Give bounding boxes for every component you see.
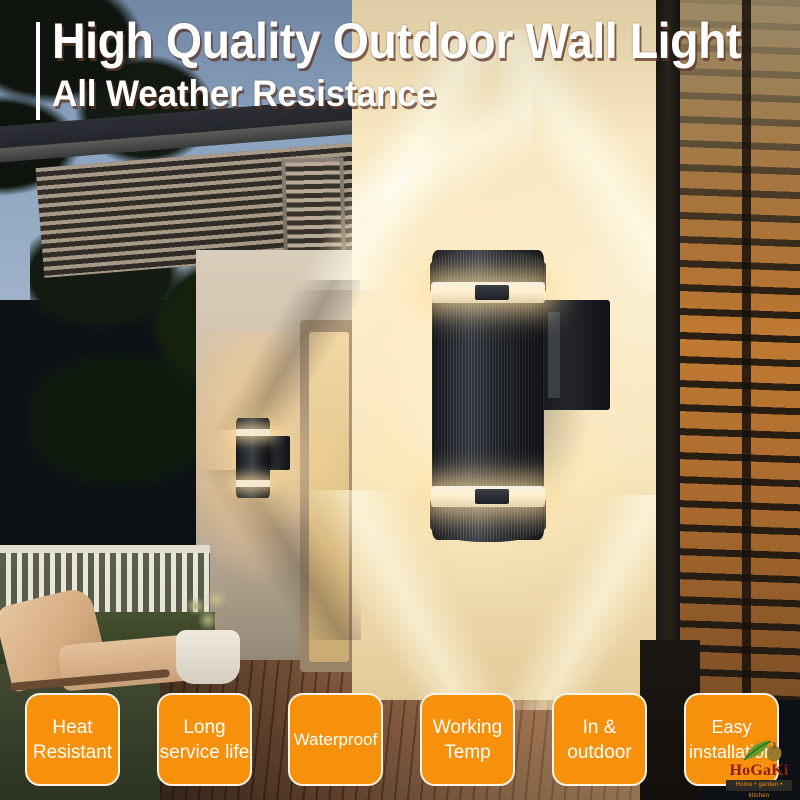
badge-heat-resistant[interactable]: HeatResistant — [25, 693, 120, 786]
small-light-bottom-lens — [236, 480, 270, 487]
small-light-top-lens — [236, 429, 270, 436]
feature-badge-row: HeatResistant Longservice life Waterproo… — [0, 682, 800, 800]
page-subtitle: All Weather Resistance — [52, 72, 756, 116]
light-bottom-lens — [431, 486, 545, 507]
outdoor-wall-light — [430, 250, 610, 550]
leaf-and-pear-icon — [740, 738, 784, 764]
brand-logo: HoGaKi Home • garden • kitchen — [722, 738, 796, 792]
light-top-lens — [431, 282, 545, 303]
light-bracket-slot — [548, 312, 560, 398]
page-title: High Quality Outdoor Wall Light — [52, 12, 741, 70]
badge-waterproof[interactable]: Waterproof — [288, 693, 383, 786]
patio-railing-top-rail — [0, 545, 210, 553]
badge-long-service-life[interactable]: Longservice life — [157, 693, 252, 786]
badge-working-temp[interactable]: WorkingTemp — [420, 693, 515, 786]
badge-label: WorkingTemp — [433, 715, 502, 765]
light-bottom-led-module — [475, 489, 509, 504]
header-title-block: High Quality Outdoor Wall Light All Weat… — [52, 12, 793, 116]
badge-label: Waterproof — [294, 727, 377, 752]
badge-label: In &outdoor — [567, 715, 631, 765]
badge-label: HeatResistant — [33, 715, 112, 765]
outdoor-wall-light-small — [236, 418, 290, 500]
banner-header: High Quality Outdoor Wall Light All Weat… — [0, 0, 800, 140]
logo-tagline: Home • garden • kitchen — [726, 780, 792, 791]
product-banner: High Quality Outdoor Wall Light All Weat… — [0, 0, 800, 800]
logo-wordmark: HoGaKi — [722, 762, 796, 780]
light-top-led-module — [475, 285, 509, 300]
badge-in-and-outdoor[interactable]: In &outdoor — [552, 693, 647, 786]
badge-label: Longservice life — [160, 715, 250, 765]
header-accent-bar — [36, 22, 40, 120]
